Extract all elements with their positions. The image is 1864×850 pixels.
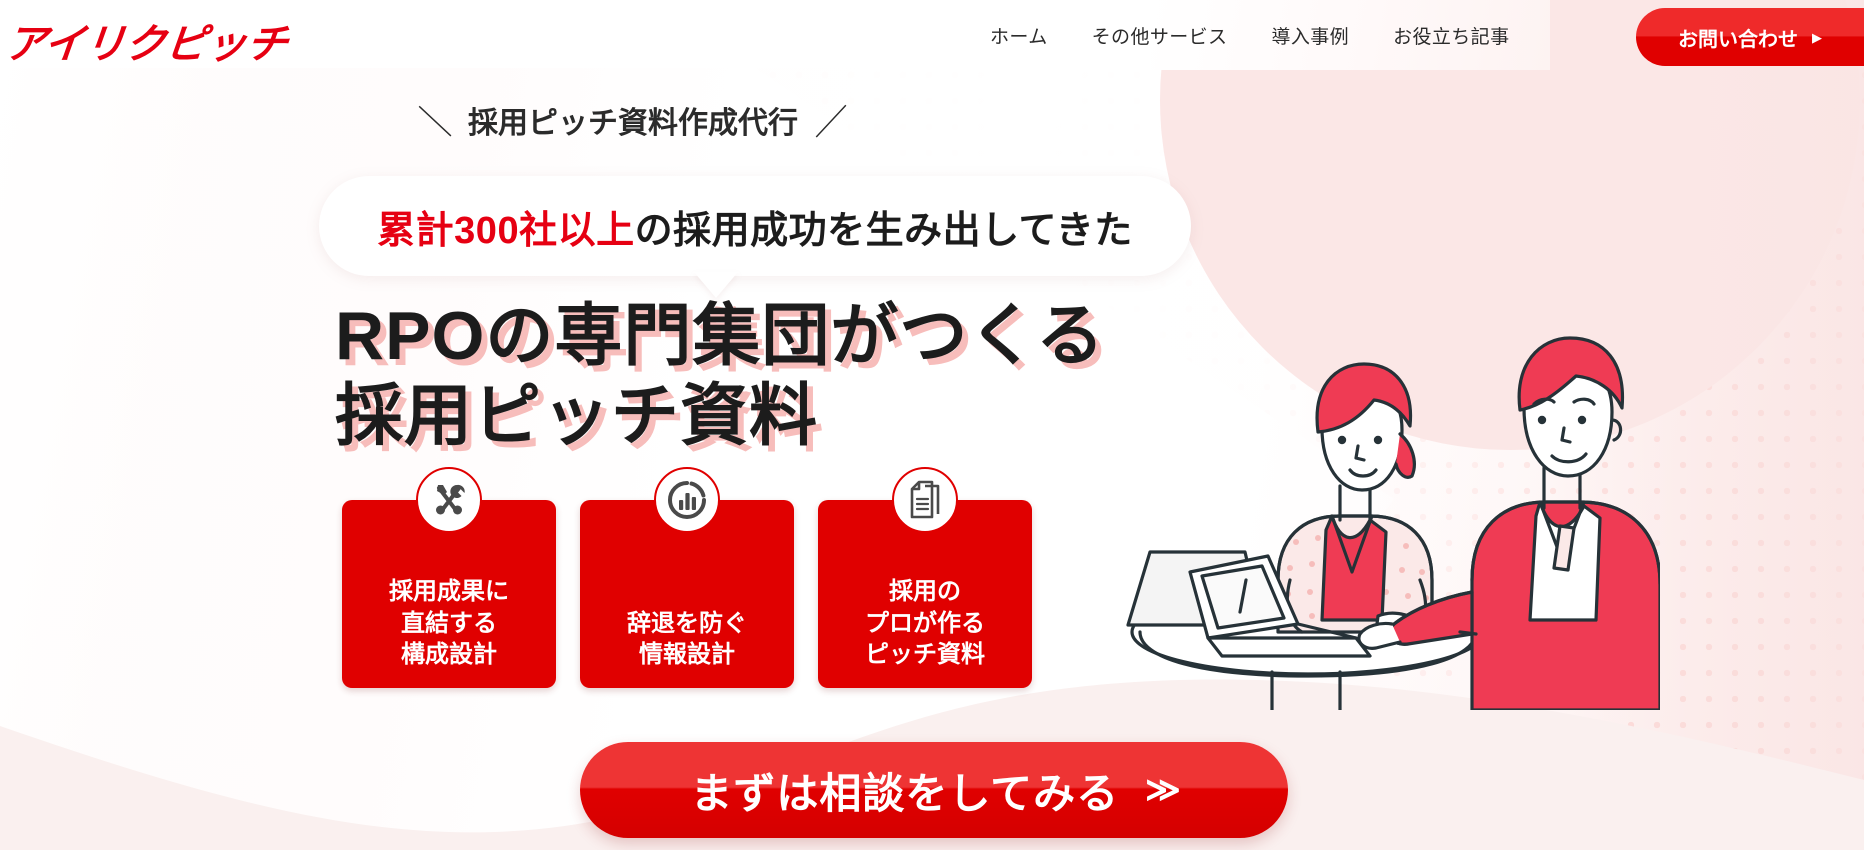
main-nav: ホーム その他サービス 導入事例 お役立ち記事	[990, 22, 1509, 49]
arrow-right-icon: ▶	[1812, 31, 1822, 44]
hero-bubble-rest: の採用成功を生み出してきた	[635, 210, 1133, 252]
tools-icon	[416, 467, 482, 533]
hero-bubble-text: 累計300社以上の採用成功を生み出してきた	[377, 199, 1133, 254]
feature-card-1[interactable]: 採用成果に 直結する 構成設計	[342, 500, 556, 688]
double-chevron-right-icon: ≫	[1145, 770, 1178, 810]
hero-headline-line-2: 採用ピッチ資料	[335, 376, 1105, 456]
feature-card-2-text: 辞退を防ぐ 情報設計	[627, 608, 747, 670]
hero-section: ＼ 採用ピッチ資料作成代行 ／ 累計300社以上の採用成功を生み出してきた RP…	[0, 0, 1864, 850]
feature-card-3[interactable]: 採用の プロが作る ピッチ資料	[818, 500, 1032, 688]
hero-bubble-highlight: 累計300社以上	[377, 210, 634, 252]
hero-bubble-tail	[694, 272, 738, 298]
feature-card-2[interactable]: 辞退を防ぐ 情報設計	[580, 500, 794, 688]
hero-illustration	[1040, 280, 1660, 710]
nav-item-services[interactable]: その他サービス	[1092, 22, 1228, 49]
feature-card-3-text: 採用の プロが作る ピッチ資料	[865, 576, 985, 670]
hero-eyebrow: ＼ 採用ピッチ資料作成代行 ／	[418, 95, 848, 144]
feature-card-1-text: 採用成果に 直結する 構成設計	[389, 576, 509, 670]
header-contact-label: お問い合わせ	[1678, 23, 1798, 52]
chart-donut-icon	[654, 467, 720, 533]
hero-consult-button[interactable]: まずは相談をしてみる ≫	[580, 742, 1288, 838]
document-icon	[892, 467, 958, 533]
site-logo[interactable]: アイリクピッチ	[3, 10, 291, 70]
page-root: アイリクピッチ ホーム その他サービス 導入事例 お役立ち記事 お問い合わせ ▶…	[0, 0, 1864, 850]
nav-item-case-study[interactable]: 導入事例	[1271, 22, 1349, 49]
eyebrow-right-slash: ／	[813, 94, 849, 144]
eyebrow-text: 採用ピッチ資料作成代行	[468, 98, 798, 142]
hero-headline-line-1: RPOの専門集団がつくる	[335, 296, 1105, 376]
header-contact-button[interactable]: お問い合わせ ▶	[1636, 8, 1864, 66]
hero-headline: RPOの専門集団がつくる 採用ピッチ資料	[335, 296, 1105, 456]
hero-consult-label: まずは相談をしてみる	[690, 760, 1119, 821]
nav-item-articles[interactable]: お役立ち記事	[1393, 22, 1509, 49]
site-header: アイリクピッチ ホーム その他サービス 導入事例 お役立ち記事 お問い合わせ ▶	[0, 0, 1864, 76]
eyebrow-left-slash: ＼	[417, 94, 453, 144]
nav-item-home[interactable]: ホーム	[990, 22, 1048, 49]
hero-speech-bubble: 累計300社以上の採用成功を生み出してきた	[319, 176, 1191, 276]
hero-feature-cards: 採用成果に 直結する 構成設計	[342, 500, 1032, 688]
